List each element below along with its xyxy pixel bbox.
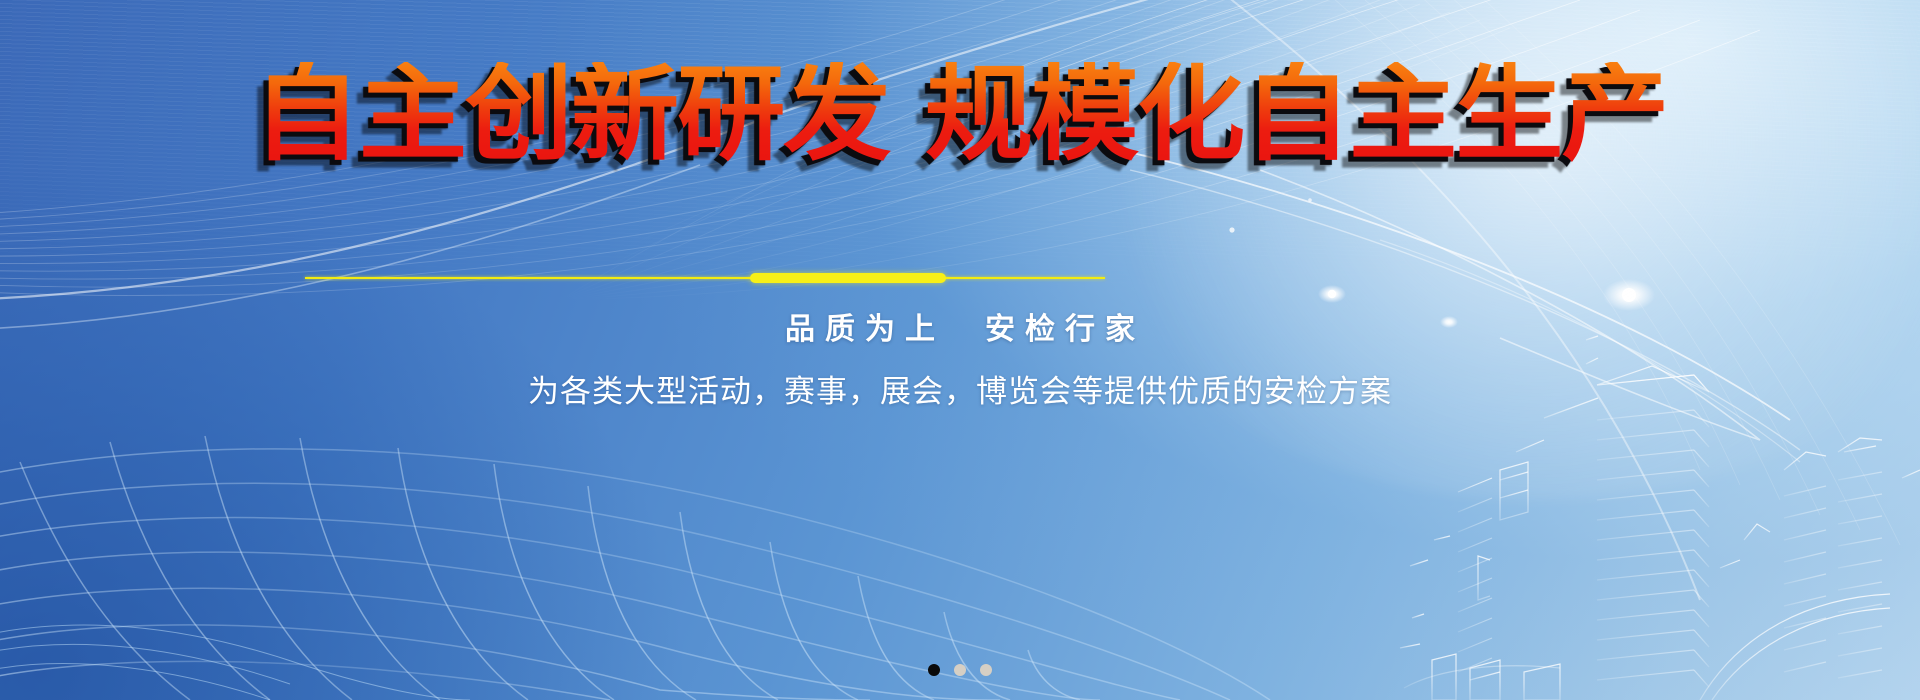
divider: [305, 272, 1105, 284]
grid-speckle-band: [0, 625, 470, 700]
subtitle-secondary: 为各类大型活动，赛事，展会，博览会等提供优质的安检方案: [0, 370, 1920, 414]
subtitle-block: 品质为上 安检行家 为各类大型活动，赛事，展会，博览会等提供优质的安检方案: [0, 308, 1920, 414]
carousel-dot-1[interactable]: [928, 664, 940, 676]
hero-title-text: 自主创新研发 规模化自主生产: [253, 62, 1668, 166]
subtitle-primary: 品质为上 安检行家: [0, 308, 1920, 352]
carousel-dots[interactable]: [0, 664, 1920, 676]
page-title: 自主创新研发 规模化自主生产: [0, 62, 1920, 166]
perspective-grid-icon: [0, 436, 1270, 700]
divider-thick-segment: [750, 273, 946, 283]
divider-thin-line: [305, 277, 1105, 279]
carousel-dot-3[interactable]: [980, 664, 992, 676]
hero-banner: 自主创新研发 规模化自主生产 品质为上 安检行家 为各类大型活动，赛事，展会，博…: [0, 0, 1920, 700]
carousel-dot-2[interactable]: [954, 664, 966, 676]
